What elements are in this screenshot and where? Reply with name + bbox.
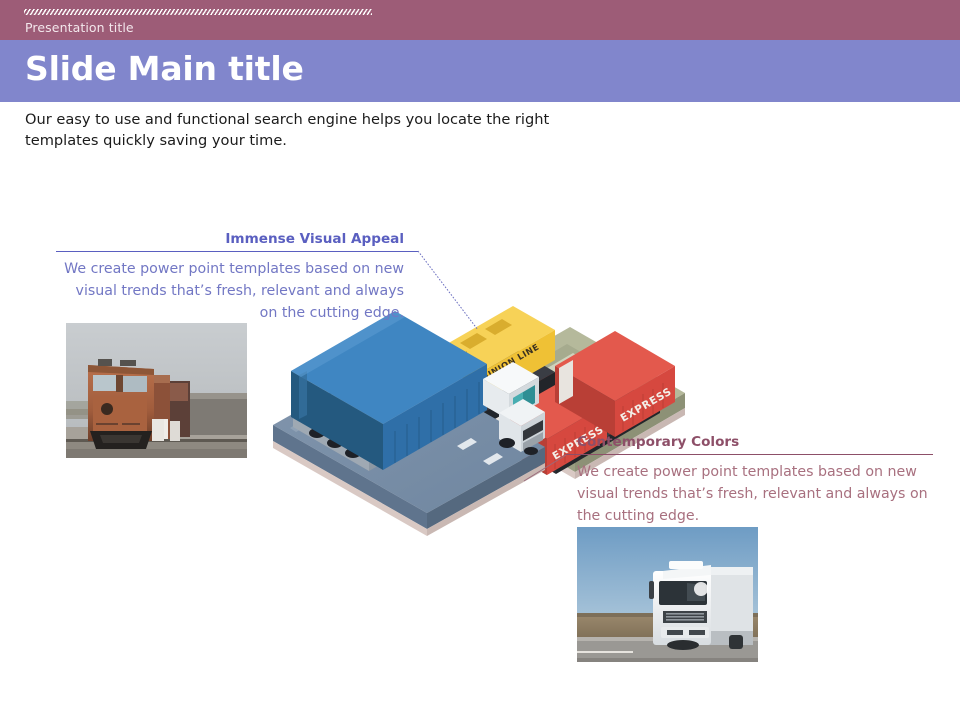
photo-train-locomotive xyxy=(66,323,247,458)
callout-immense-visual-appeal: Immense Visual Appeal We create power po… xyxy=(56,231,418,324)
photo-truck-highway xyxy=(577,527,758,662)
callout-heading-contemporary-colors: Contemporary Colors xyxy=(565,434,933,450)
callout-heading-visual-appeal: Immense Visual Appeal xyxy=(56,231,418,247)
photo-truck-graphic xyxy=(577,527,758,662)
slide-main-title: Slide Main title xyxy=(25,49,304,88)
callout-body-contemporary-colors: We create power point templates based on… xyxy=(565,455,933,527)
callout-contemporary-colors: Contemporary Colors We create power poin… xyxy=(565,434,933,527)
top-header-band: Presentation title xyxy=(0,0,960,40)
callout-body-visual-appeal: We create power point templates based on… xyxy=(56,252,418,324)
photo-train-graphic xyxy=(66,323,247,458)
slide-subtitle: Our easy to use and functional search en… xyxy=(25,109,585,151)
presentation-title: Presentation title xyxy=(25,20,134,35)
diagonal-hatch-rule-icon xyxy=(24,9,372,15)
